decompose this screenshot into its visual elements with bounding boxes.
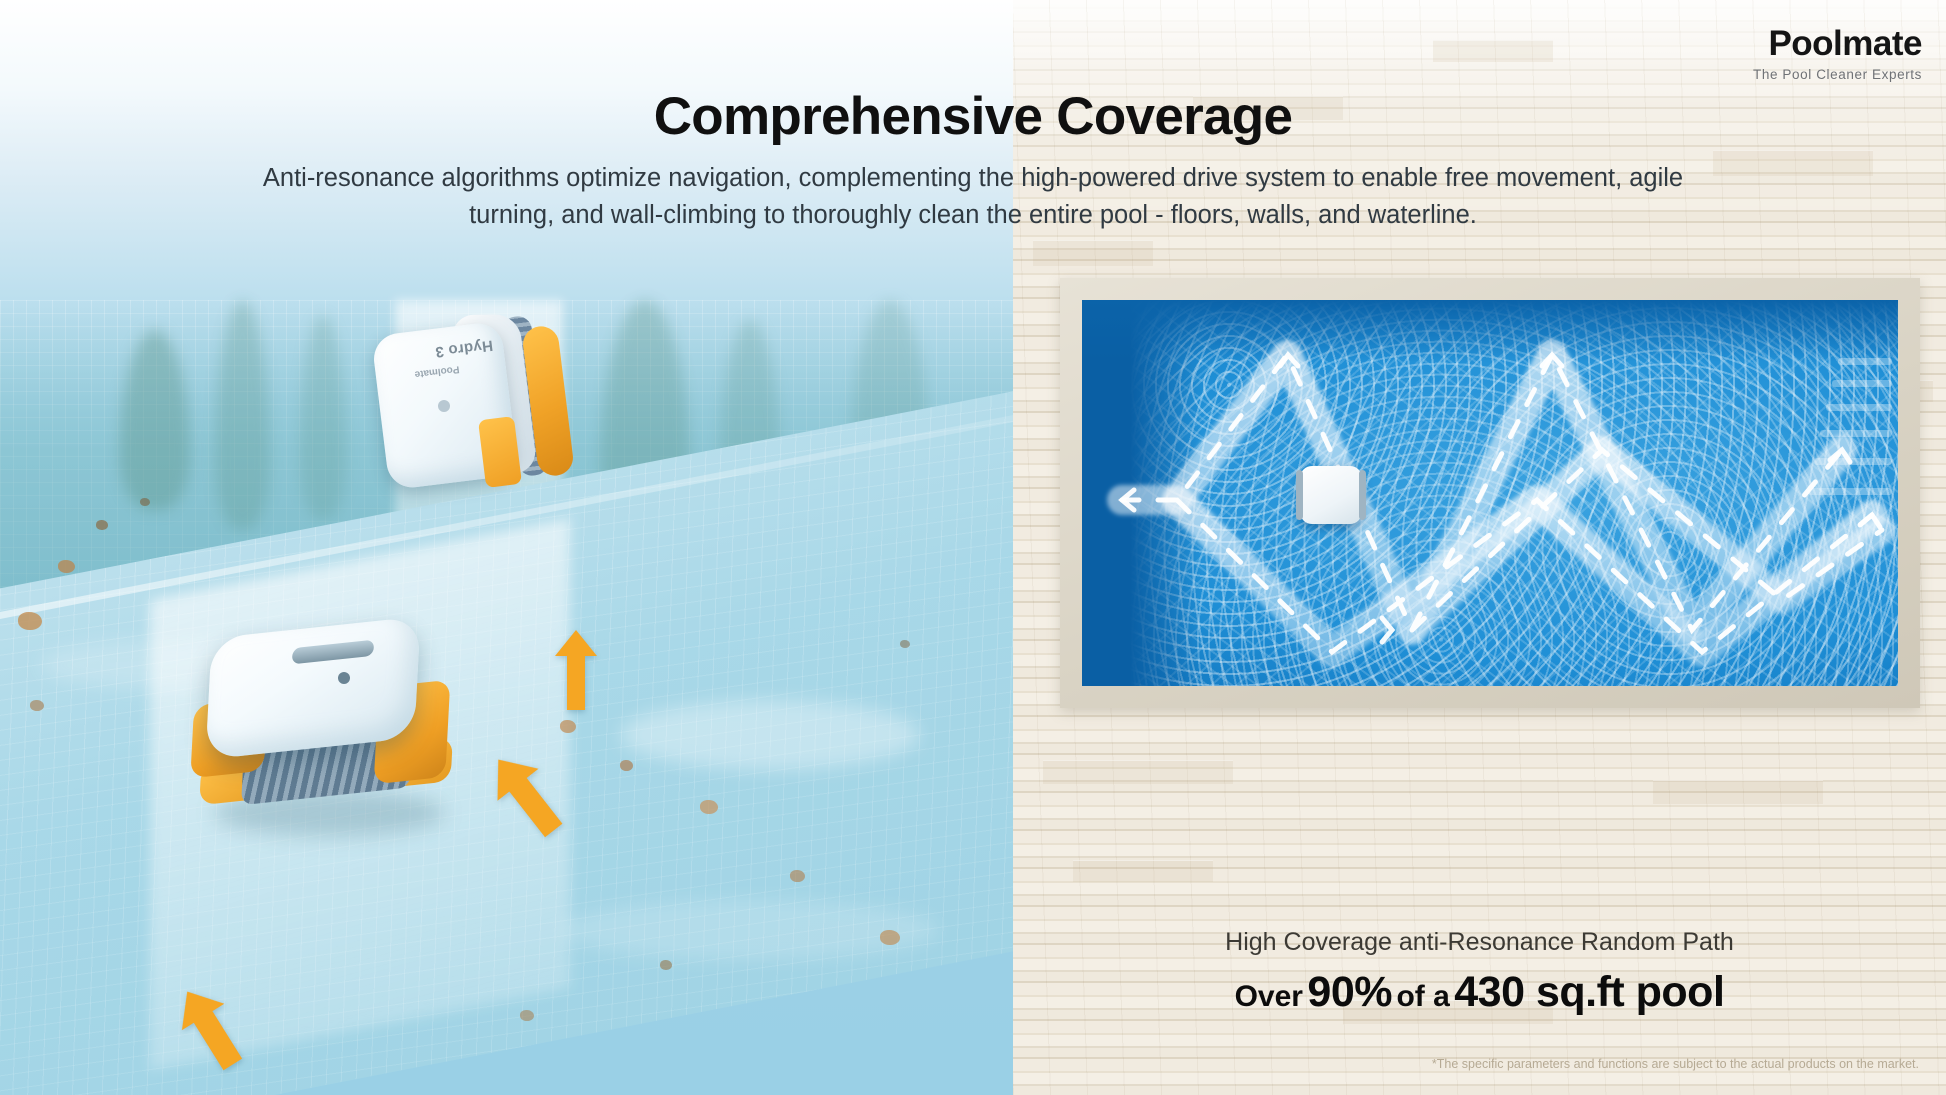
debris-leaf — [700, 800, 718, 814]
page-title: Comprehensive Coverage — [0, 86, 1946, 147]
debris-leaf — [58, 560, 75, 573]
direction-arrow-up — [555, 630, 597, 710]
debris-leaf — [880, 930, 900, 945]
brand-tagline: The Pool Cleaner Experts — [1753, 67, 1922, 82]
robot-sensor-dot — [438, 400, 450, 412]
debris-leaf — [140, 498, 150, 506]
floor-cleaning-robot — [180, 610, 480, 870]
pool-water — [1082, 300, 1898, 686]
debris-leaf — [96, 520, 108, 530]
subheading-copy: Anti-resonance algorithms optimize navig… — [258, 160, 1688, 234]
pool-robot-track-left — [1296, 470, 1303, 520]
debris-leaf — [18, 612, 42, 630]
brand-name: Poolmate — [1753, 26, 1922, 61]
debris-leaf — [520, 1010, 534, 1021]
debris-leaf — [620, 760, 633, 771]
wall-climbing-robot: Hydro 3 Poolmate — [372, 300, 562, 500]
debris-leaf — [790, 870, 805, 882]
water-shimmer — [620, 700, 920, 770]
coverage-caption: High Coverage anti-Resonance Random Path — [1013, 928, 1946, 957]
robot-shell — [205, 616, 420, 759]
stat-middle: of a — [1396, 980, 1449, 1013]
stat-prefix: Over — [1235, 980, 1303, 1013]
robot-sensor-dot — [338, 672, 350, 684]
disclaimer-note: *The specific parameters and functions a… — [1013, 1057, 1933, 1071]
cleaning-path-overlay — [1082, 300, 1898, 686]
coverage-stat: Over 90% of a 430 sq.ft pool — [1013, 968, 1946, 1017]
debris-speck — [660, 960, 672, 970]
promo-banner: Hydro 3 Poolmate — [0, 0, 1946, 1095]
debris-leaf — [560, 720, 576, 733]
stat-percent: 90% — [1307, 968, 1392, 1016]
pool-robot-topdown — [1300, 466, 1362, 524]
debris-leaf — [30, 700, 44, 711]
brand-logo: Poolmate The Pool Cleaner Experts — [1753, 26, 1922, 82]
debris-speck — [900, 640, 910, 648]
pool-robot-track-right — [1359, 470, 1366, 520]
stat-area: 430 sq.ft pool — [1454, 968, 1724, 1016]
